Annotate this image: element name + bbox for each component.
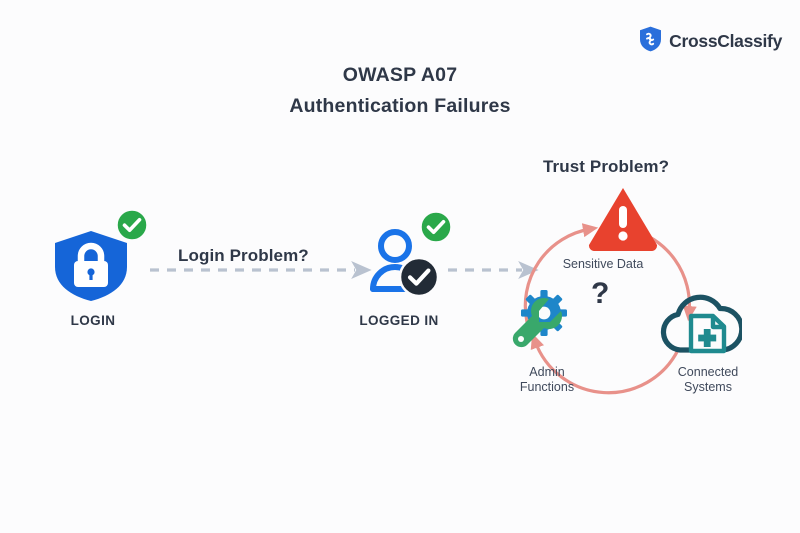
crossclassify-shield-icon bbox=[639, 26, 662, 57]
connected-systems-label-line-2: Systems bbox=[643, 380, 773, 395]
sensitive-data-label: Sensitive Data bbox=[523, 257, 683, 272]
diagram-canvas: CrossClassify OWASP A07 Authentication F… bbox=[0, 0, 800, 533]
flow-node-logged-in-label: LOGGED IN bbox=[349, 313, 449, 328]
title-line-1: OWASP A07 bbox=[0, 62, 800, 88]
admin-functions-label-line-2: Functions bbox=[487, 380, 607, 395]
admin-functions-label-line-1: Admin bbox=[487, 365, 607, 380]
page-title: OWASP A07 Authentication Failures bbox=[0, 62, 800, 119]
brand-name: CrossClassify bbox=[669, 31, 782, 52]
wrench-gear-icon bbox=[502, 285, 574, 362]
flow-node-login-label: LOGIN bbox=[43, 313, 143, 328]
admin-functions-label: Admin Functions bbox=[487, 365, 607, 395]
flow-node-login[interactable]: LOGIN bbox=[43, 215, 143, 328]
connected-systems-label-line-1: Connected bbox=[643, 365, 773, 380]
connected-systems-label: Connected Systems bbox=[643, 365, 773, 395]
flow-node-logged-in[interactable]: LOGGED IN bbox=[349, 215, 449, 328]
user-person-icon bbox=[349, 215, 449, 305]
brand-logo[interactable]: CrossClassify bbox=[639, 26, 782, 57]
title-line-2: Authentication Failures bbox=[0, 93, 800, 119]
trust-problem-heading: Trust Problem? bbox=[543, 157, 669, 177]
question-mark-symbol: ? bbox=[591, 277, 609, 311]
warning-triangle-icon bbox=[587, 185, 659, 256]
shield-lock-icon bbox=[43, 215, 143, 305]
cloud-document-icon bbox=[658, 288, 742, 363]
trust-cluster: Sensitive Data ? bbox=[495, 185, 725, 410]
login-problem-caption: Login Problem? bbox=[178, 246, 309, 266]
